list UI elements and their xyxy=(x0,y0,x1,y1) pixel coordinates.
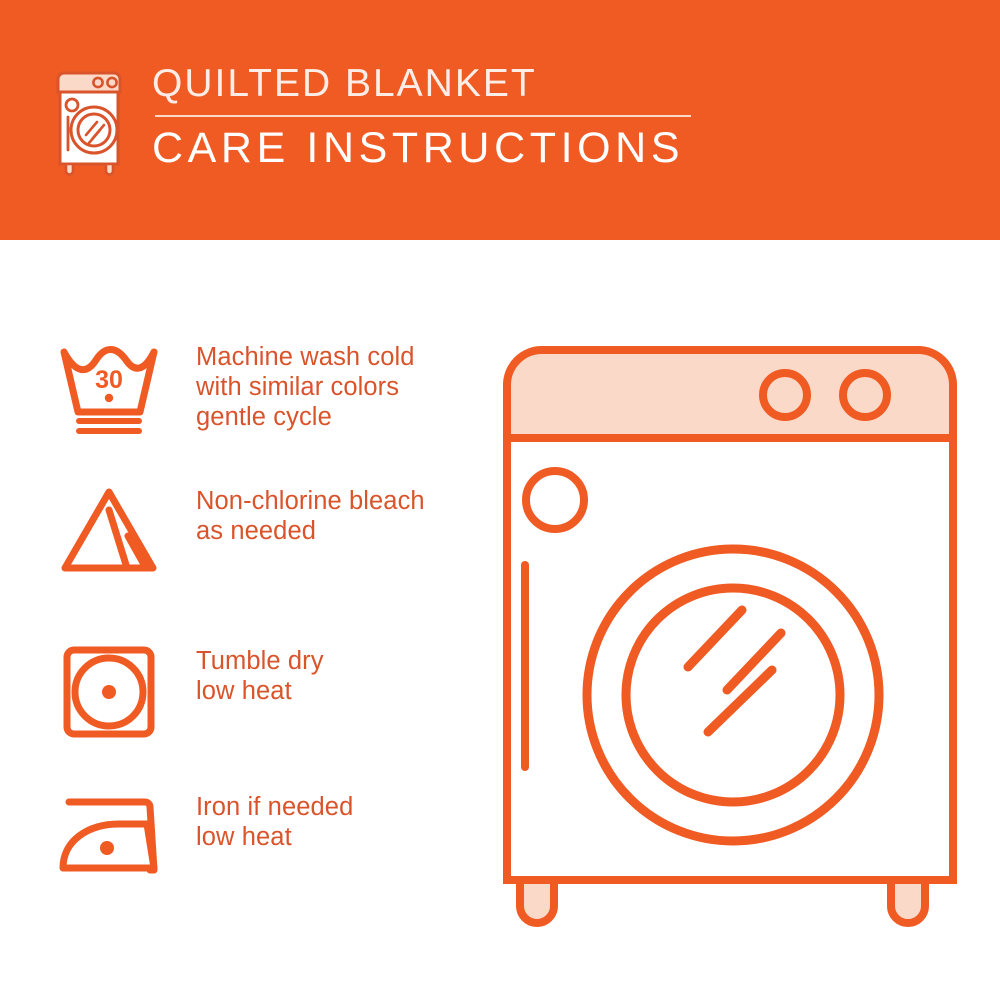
care-text-line: Non-chlorine bleach xyxy=(196,486,425,516)
page-title-secondary: CARE INSTRUCTIONS xyxy=(152,124,691,172)
care-text-iron: Iron if needed low heat xyxy=(196,790,353,852)
care-instruction-list: 30 Machine wash cold with similar colors… xyxy=(0,240,470,1000)
page-title-primary: QUILTED BLANKET xyxy=(152,62,691,106)
care-row-iron: Iron if needed low heat xyxy=(52,790,472,878)
tumble-dry-heat-dot xyxy=(102,685,116,699)
care-text-line: as needed xyxy=(196,516,425,546)
care-icon-iron xyxy=(52,790,166,878)
header-title-group: QUILTED BLANKET CARE INSTRUCTIONS xyxy=(152,62,691,172)
iron-icon xyxy=(55,790,163,878)
bleach-triangle-icon xyxy=(57,484,161,576)
care-row-wash: 30 Machine wash cold with similar colors… xyxy=(52,340,472,440)
care-row-tumble-dry: Tumble dry low heat xyxy=(52,644,472,740)
care-text-line: low heat xyxy=(196,822,353,852)
washing-machine-icon xyxy=(48,66,132,178)
care-icon-tumble-dry xyxy=(52,644,166,740)
care-row-bleach: Non-chlorine bleach as needed xyxy=(52,484,472,576)
title-divider xyxy=(155,115,691,117)
header-banner: QUILTED BLANKET CARE INSTRUCTIONS xyxy=(0,0,1000,240)
care-text-line: low heat xyxy=(196,676,324,706)
washing-machine-illustration xyxy=(480,320,980,940)
care-icon-wash: 30 xyxy=(52,340,166,440)
tumble-dry-icon xyxy=(61,644,157,740)
wash-dot-icon xyxy=(105,394,113,402)
machine-leg-left xyxy=(520,880,554,923)
wash-tub-icon: 30 xyxy=(54,340,164,440)
header-content: QUILTED BLANKET CARE INSTRUCTIONS xyxy=(48,62,691,178)
wash-bar-2 xyxy=(76,428,142,434)
iron-heat-dot xyxy=(100,841,114,855)
care-text-line: gentle cycle xyxy=(196,402,415,432)
wash-temperature-label: 30 xyxy=(95,366,123,394)
care-text-line: Tumble dry xyxy=(196,646,324,676)
care-text-line: Iron if needed xyxy=(196,792,353,822)
care-text-line: with similar colors xyxy=(196,372,415,402)
care-text-line: Machine wash cold xyxy=(196,342,415,372)
care-text-tumble-dry: Tumble dry low heat xyxy=(196,644,324,706)
care-text-bleach: Non-chlorine bleach as needed xyxy=(196,484,425,546)
care-icon-bleach xyxy=(52,484,166,576)
care-text-wash: Machine wash cold with similar colors ge… xyxy=(196,340,415,432)
wash-bar-1 xyxy=(76,418,142,424)
machine-body xyxy=(507,438,953,880)
machine-leg-right xyxy=(891,880,925,923)
